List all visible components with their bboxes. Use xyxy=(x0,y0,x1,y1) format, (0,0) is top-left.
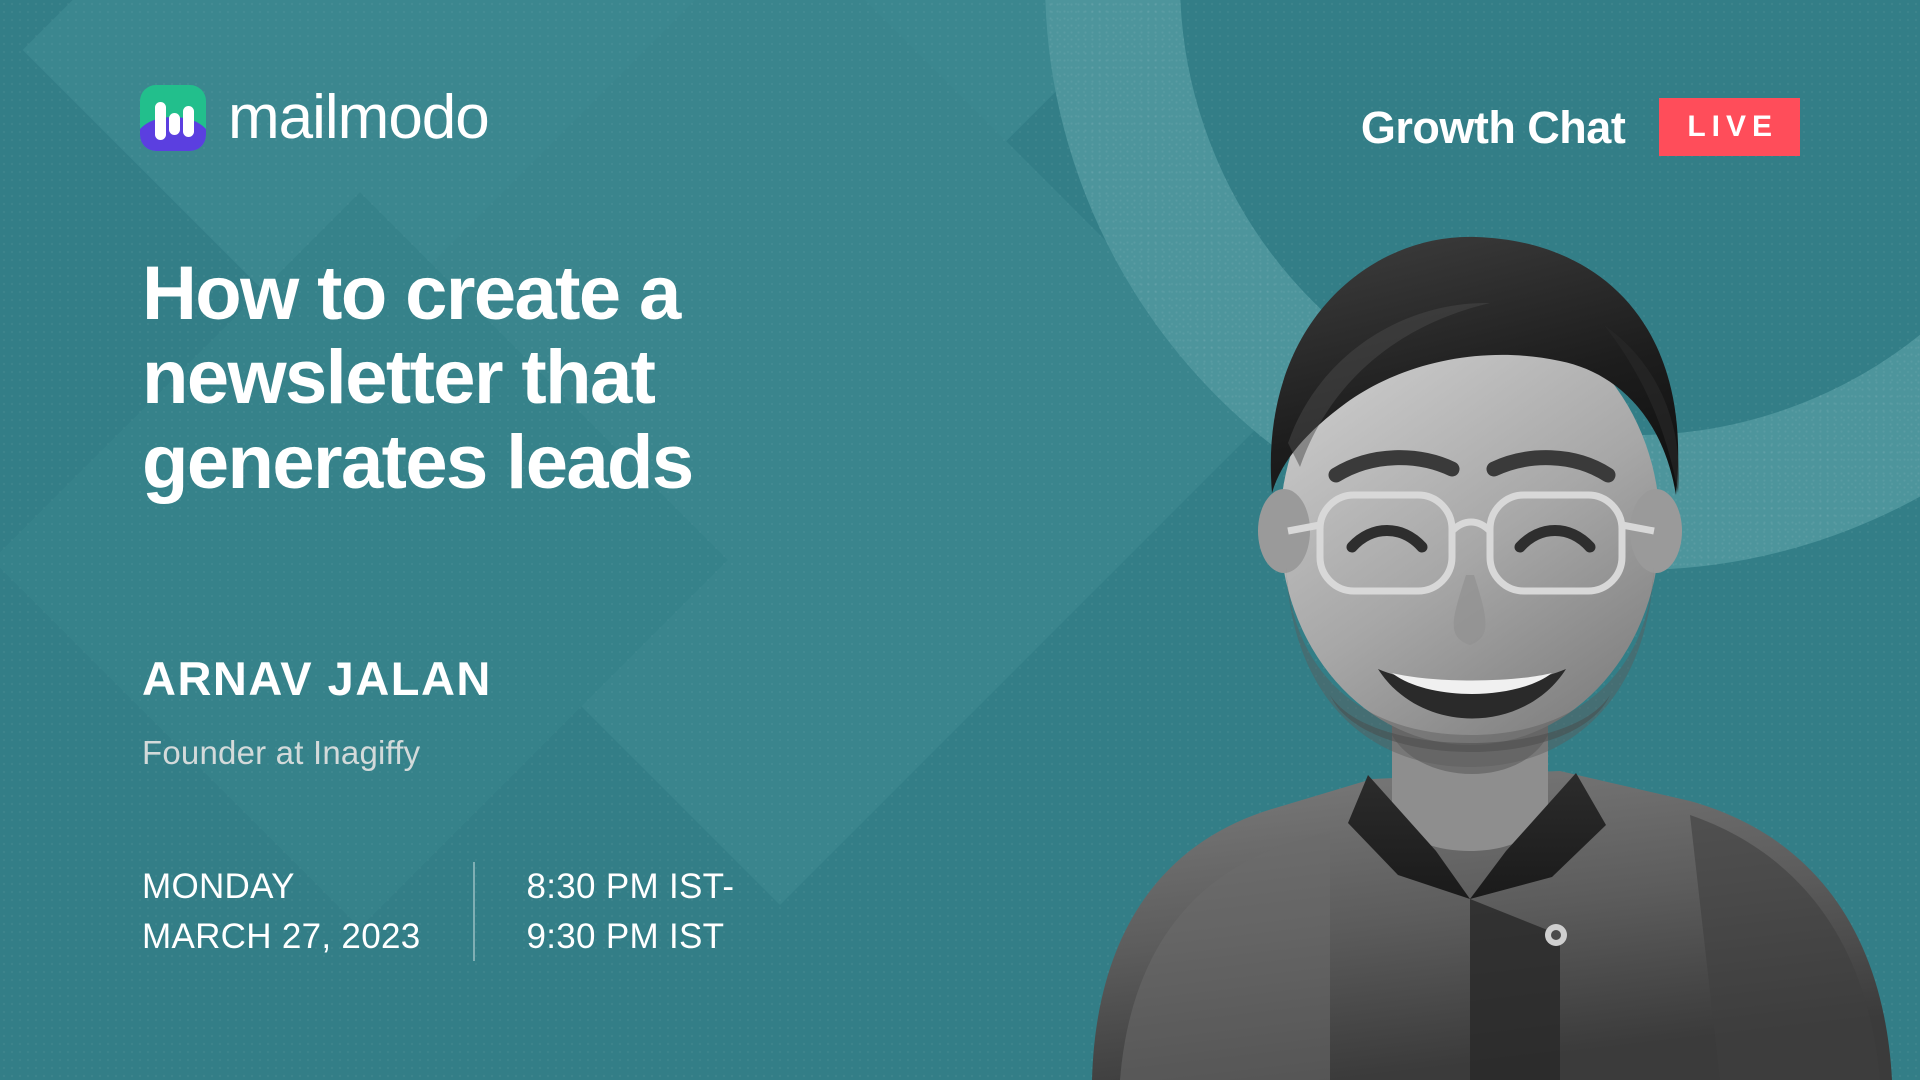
speaker-title: Founder at Inagiffy xyxy=(142,736,420,769)
mailmodo-logo-icon xyxy=(140,85,206,151)
webinar-promo-poster: mailmodo Growth Chat LIVE How to create … xyxy=(0,0,1920,1080)
schedule-time-end: 9:30 PM IST xyxy=(527,912,735,962)
schedule: MONDAY MARCH 27, 2023 8:30 PM IST- 9:30 … xyxy=(142,862,734,961)
schedule-day: MONDAY xyxy=(142,862,421,912)
brand-wordmark: mailmodo xyxy=(228,87,489,149)
speaker-portrait xyxy=(1000,175,1920,1080)
schedule-time-start: 8:30 PM IST- xyxy=(527,862,735,912)
schedule-time: 8:30 PM IST- 9:30 PM IST xyxy=(527,862,735,961)
schedule-divider xyxy=(473,862,475,961)
brand-logo: mailmodo xyxy=(140,85,489,151)
live-badge: LIVE xyxy=(1659,98,1800,156)
page-title: How to create a newsletter that generate… xyxy=(142,252,932,505)
schedule-full-date: MARCH 27, 2023 xyxy=(142,912,421,962)
series-header: Growth Chat LIVE xyxy=(1361,98,1800,156)
series-title: Growth Chat xyxy=(1361,105,1625,150)
speaker-name: ARNAV JALAN xyxy=(142,655,492,702)
schedule-date: MONDAY MARCH 27, 2023 xyxy=(142,862,421,961)
